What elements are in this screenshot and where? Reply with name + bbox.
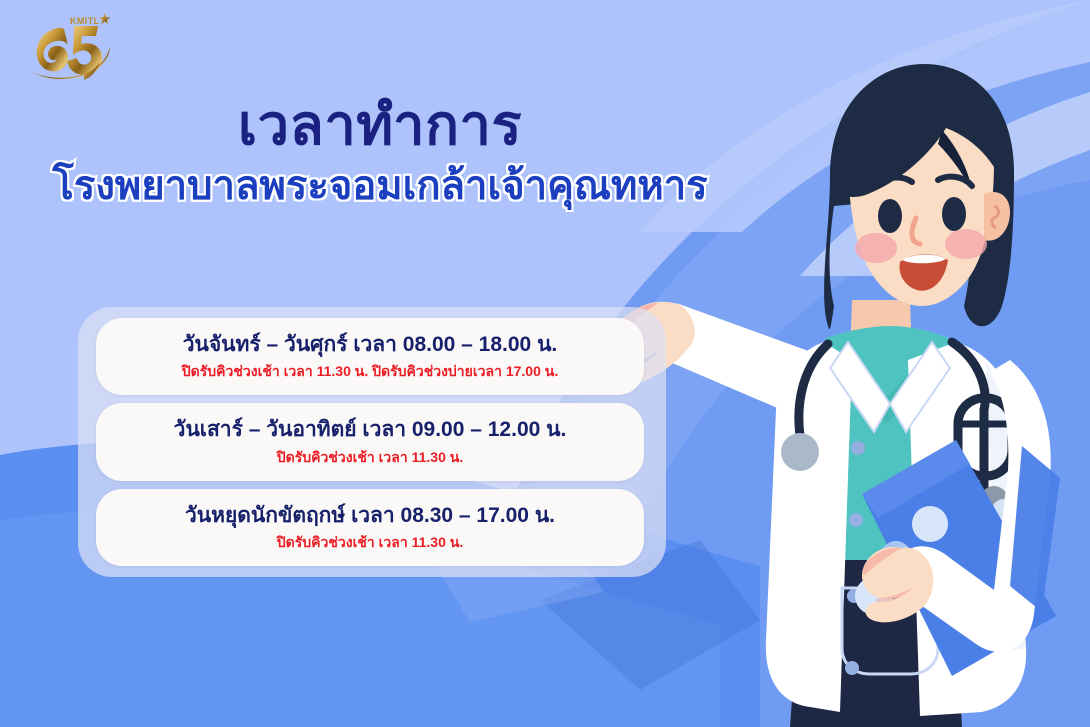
schedule-note: ปิดรับคิวช่วงเช้า เวลา 11.30 น. ปิดรับคิ…: [114, 362, 626, 380]
stethoscope-earpiece: [781, 433, 819, 471]
doctor-coat-button-2: [849, 513, 863, 527]
doctor-cheek-left: [855, 233, 897, 263]
doctor-coat-left: [766, 342, 852, 712]
operating-hours-poster: KMITL ★ เวลาทำการ โรงพยาบาลพระจอมเกล้าเจ…: [0, 0, 1090, 727]
logo-star-icon: ★: [98, 11, 111, 28]
doctor-coat-button-4: [845, 661, 859, 675]
doctor-eye-left: [878, 199, 902, 233]
logo-kmitl-text: KMITL: [70, 16, 100, 26]
kmitl-65-anniversary-logo: KMITL ★: [26, 8, 118, 86]
schedule-heading: วันเสาร์ – วันอาทิตย์ เวลา 09.00 – 12.00…: [114, 417, 626, 443]
clipboard-dot-1: [912, 506, 948, 542]
logo-digit-six: [37, 28, 68, 72]
doctor-eye-right: [942, 197, 966, 231]
doctor-cheek-right: [945, 229, 987, 259]
schedule-note: ปิดรับคิวช่วงเช้า เวลา 11.30 น.: [114, 533, 626, 551]
doctor-head: [824, 64, 1014, 329]
doctor-coat-button-1: [851, 441, 865, 455]
schedule-heading: วันจันทร์ – วันศุกร์ เวลา 08.00 – 18.00 …: [114, 332, 626, 358]
schedule-card-weekday[interactable]: วันจันทร์ – วันศุกร์ เวลา 08.00 – 18.00 …: [96, 318, 644, 395]
schedule-card-public-holiday[interactable]: วันหยุดนักขัตฤกษ์ เวลา 08.30 – 17.00 น. …: [96, 489, 644, 566]
schedule-card-weekend[interactable]: วันเสาร์ – วันอาทิตย์ เวลา 09.00 – 12.00…: [96, 403, 644, 480]
schedule-card-list: วันจันทร์ – วันศุกร์ เวลา 08.00 – 18.00 …: [96, 318, 644, 566]
schedule-heading: วันหยุดนักขัตฤกษ์ เวลา 08.30 – 17.00 น.: [114, 503, 626, 529]
schedule-note: ปิดรับคิวช่วงเช้า เวลา 11.30 น.: [114, 448, 626, 466]
